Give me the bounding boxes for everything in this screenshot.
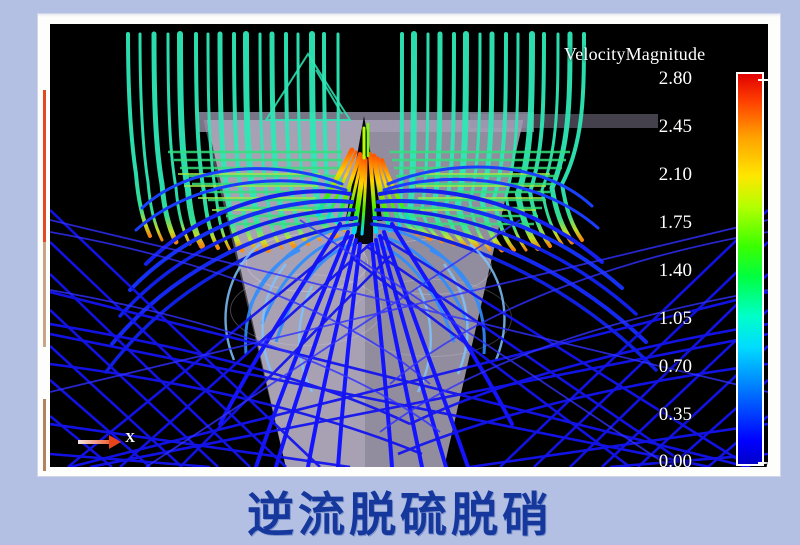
colorbar-tick: 0.35 [659,404,692,426]
colorbar-tick: 0.00 [659,451,692,467]
image-frame: VelocityMagnitude 2.74 0.00 2.80 2.45 2.… [38,14,780,476]
render-viewport[interactable]: VelocityMagnitude 2.74 0.00 2.80 2.45 2.… [50,24,768,467]
colorbar-gradient [736,72,764,466]
x-axis-label: X [125,431,135,447]
colorbar-min-label: 0.00 [766,458,768,467]
colorbar-tick: 2.80 [659,68,692,90]
left-edge-strip-red [43,90,46,242]
colorbar-tick: 0.70 [659,356,692,378]
slide-root: VelocityMagnitude 2.74 0.00 2.80 2.45 2.… [0,0,800,542]
colorbar-tick: 1.40 [659,260,692,282]
left-edge-strip-tan [43,242,46,347]
colorbar-tick: 2.45 [659,116,692,138]
colorbar-tick-labels: 2.80 2.45 2.10 1.75 1.40 1.05 0.70 0.35 … [520,28,726,467]
axis-triad: X [78,428,148,458]
colorbar-tick: 1.75 [659,212,692,234]
colorbar-tick: 2.10 [659,164,692,186]
left-edge-strip-tan-lower [43,399,46,471]
x-axis-arrowhead-icon [109,435,121,449]
colorbar-tick: 1.05 [659,308,692,330]
colorbar: VelocityMagnitude 2.74 0.00 2.80 2.45 2.… [520,28,768,467]
slide-caption: 逆流脱硫脱硝 [0,478,800,542]
x-axis-arrow-icon [78,440,112,444]
colorbar-max-tick [758,79,768,81]
